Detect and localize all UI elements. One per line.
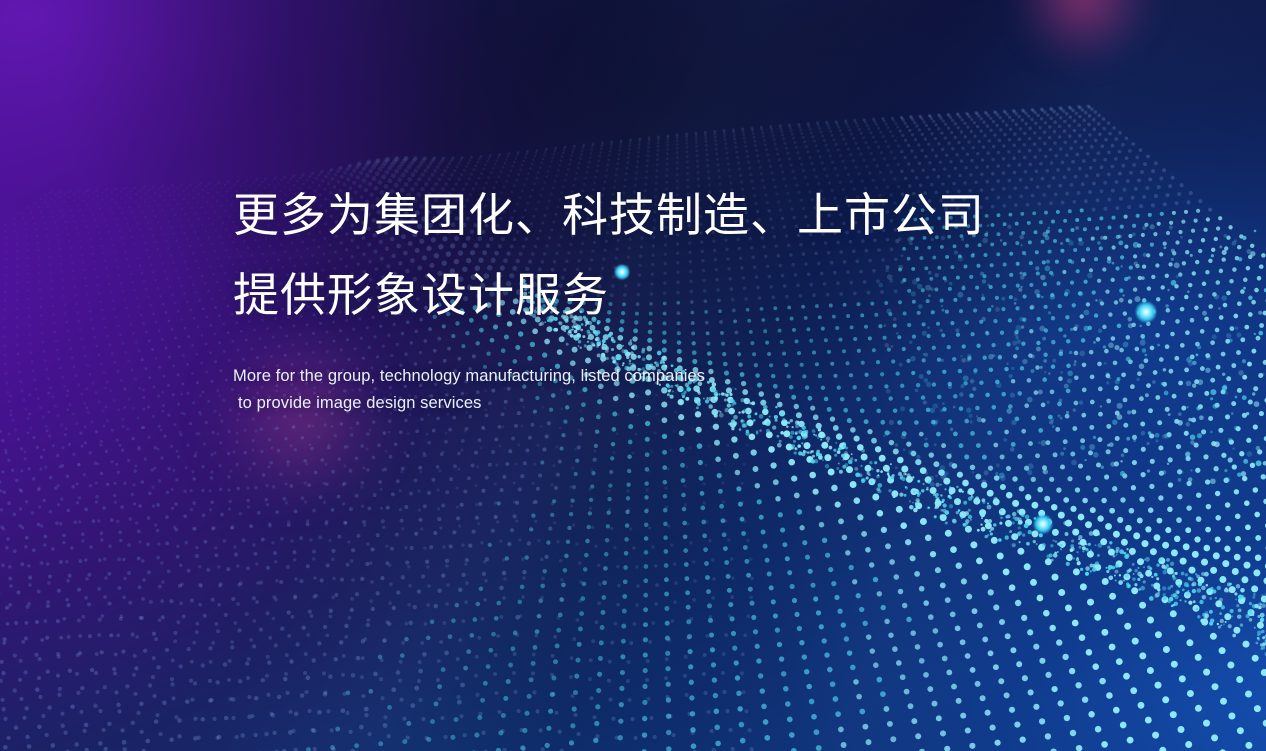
- subtitle: More for the group, technology manufactu…: [233, 363, 1033, 417]
- headline-line-2: 提供形象设计服务: [233, 255, 1033, 335]
- subtitle-line-1: More for the group, technology manufactu…: [233, 363, 1033, 390]
- hero-text-block: 更多为集团化、科技制造、上市公司 提供形象设计服务 More for the g…: [233, 175, 1033, 417]
- hero-banner: 更多为集团化、科技制造、上市公司 提供形象设计服务 More for the g…: [0, 0, 1266, 751]
- subtitle-line-2: to provide image design services: [233, 390, 1033, 417]
- headline: 更多为集团化、科技制造、上市公司 提供形象设计服务: [233, 175, 1033, 335]
- headline-line-1: 更多为集团化、科技制造、上市公司: [233, 175, 1033, 255]
